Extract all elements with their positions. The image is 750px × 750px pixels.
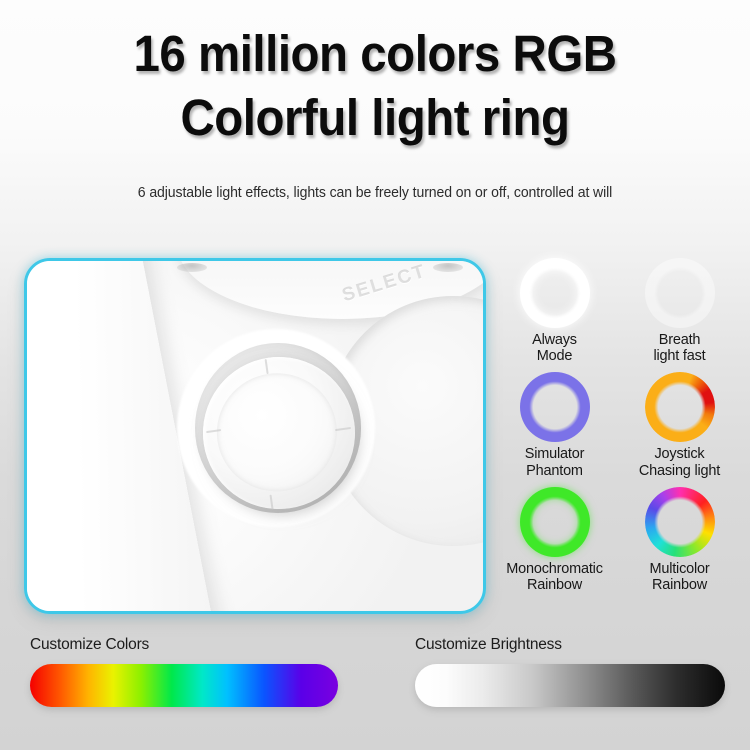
- light-effect-legend: Always Mode Breath light fast Simulator …: [494, 258, 740, 593]
- customize-colors-block: Customize Colors: [30, 636, 350, 707]
- ring-icon-mono: [520, 487, 590, 557]
- light-effect-joystick-chasing-light[interactable]: Joystick Chasing light: [619, 372, 740, 478]
- light-effect-simulator-phantom[interactable]: Simulator Phantom: [494, 372, 615, 478]
- ring-icon-breath: [645, 258, 715, 328]
- ring-icon-always: [520, 258, 590, 328]
- light-effect-label: Joystick Chasing light: [639, 446, 720, 478]
- joystick-socket: [195, 343, 361, 513]
- cap-seam-bottom: [270, 495, 274, 510]
- joystick-cap-inner-surface: [209, 366, 344, 500]
- ring-icon-joystick: [645, 372, 715, 442]
- ring-icon-multicolor: [645, 487, 715, 557]
- controller-button-right: [433, 263, 463, 272]
- light-effect-label: Multicolor Rainbow: [649, 561, 709, 593]
- light-effect-label: Always Mode: [532, 332, 577, 364]
- light-effect-always-mode[interactable]: Always Mode: [494, 258, 615, 364]
- color-hue-slider[interactable]: [30, 664, 338, 707]
- cap-seam-right: [335, 427, 351, 431]
- ring-icon-simulator: [520, 372, 590, 442]
- customize-colors-label: Customize Colors: [30, 636, 350, 654]
- light-effect-label: Monochromatic Rainbow: [506, 561, 603, 593]
- cap-seam-top: [265, 359, 269, 374]
- page-title-line-2: Colorful light ring: [26, 92, 724, 143]
- page-subtitle: 6 adjustable light effects, lights can b…: [11, 185, 739, 201]
- controller-button-left: [177, 263, 207, 272]
- page-title-line-1: 16 million colors RGB: [26, 28, 724, 79]
- product-photo-panel: SELECT: [24, 258, 486, 614]
- light-effect-breath-light-fast[interactable]: Breath light fast: [619, 258, 740, 364]
- light-effect-label: Simulator Phantom: [525, 446, 584, 478]
- customize-brightness-block: Customize Brightness: [415, 636, 737, 707]
- joystick-assembly: [169, 323, 384, 538]
- light-effect-label: Breath light fast: [654, 332, 706, 364]
- brightness-slider[interactable]: [415, 664, 725, 707]
- promo-page: 16 million colors RGB Colorful light rin…: [0, 0, 750, 750]
- customize-brightness-label: Customize Brightness: [415, 636, 737, 654]
- light-effect-monochromatic-rainbow[interactable]: Monochromatic Rainbow: [494, 487, 615, 593]
- light-effect-multicolor-rainbow[interactable]: Multicolor Rainbow: [619, 487, 740, 593]
